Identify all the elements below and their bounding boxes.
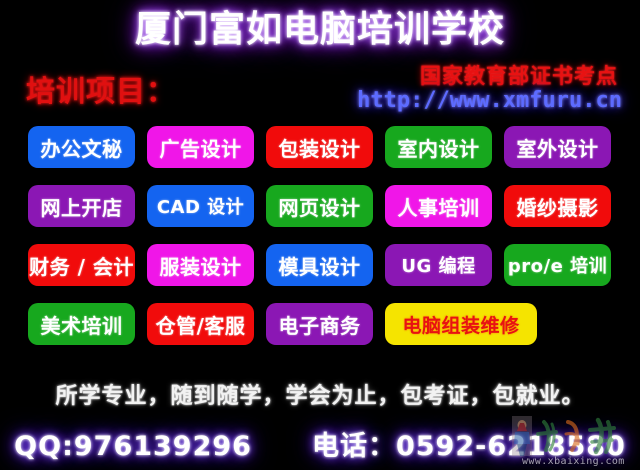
course-button-ug[interactable]: UG 编程: [385, 244, 492, 286]
course-row: 美术培训 仓管/客服 电子商务 电脑组装维修: [28, 303, 614, 345]
course-button-proe[interactable]: pro/e 培训: [504, 244, 611, 286]
certification-badge: 国家教育部证书考点: [420, 60, 618, 90]
course-button-bangongwenmi[interactable]: 办公文秘: [28, 126, 135, 168]
course-button-caiwukuaiji[interactable]: 财务 / 会计: [28, 244, 135, 286]
course-button-renshipeixun[interactable]: 人事培训: [385, 185, 492, 227]
contact-row: QQ:976139296 电话：0592-6218580: [0, 424, 640, 463]
course-button-shiwaisheji[interactable]: 室外设计: [504, 126, 611, 168]
qq-contact[interactable]: QQ:976139296: [14, 431, 252, 462]
course-row: 财务 / 会计 服装设计 模具设计 UG 编程 pro/e 培训: [28, 244, 614, 286]
slogan-text: 所学专业，随到随学，学会为止，包考证，包就业。: [0, 378, 640, 410]
training-programs-label: 培训项目：: [26, 68, 176, 110]
course-button-guanggaosheji[interactable]: 广告设计: [147, 126, 254, 168]
course-button-mojusheji[interactable]: 模具设计: [266, 244, 373, 286]
course-button-shineisheji[interactable]: 室内设计: [385, 126, 492, 168]
phone-contact[interactable]: 电话：0592-6218580: [312, 424, 626, 463]
page-title: 厦门富如电脑培训学校: [0, 8, 640, 52]
course-button-diannaozuzhuangweixiu[interactable]: 电脑组装维修: [385, 303, 537, 345]
course-row: 网上开店 CAD 设计 网页设计 人事培训 婚纱摄影: [28, 185, 614, 227]
course-button-fuzhuangsheji[interactable]: 服装设计: [147, 244, 254, 286]
course-button-hunshasheying[interactable]: 婚纱摄影: [504, 185, 611, 227]
course-button-dianzishangwu[interactable]: 电子商务: [266, 303, 373, 345]
course-grid: 办公文秘 广告设计 包装设计 室内设计 室外设计 网上开店 CAD 设计 网页设…: [28, 126, 614, 362]
course-button-wangyesheji[interactable]: 网页设计: [266, 185, 373, 227]
poster-canvas: 厦门富如电脑培训学校 培训项目： 国家教育部证书考点 http://www.xm…: [0, 0, 640, 470]
course-button-wangshangkaidian[interactable]: 网上开店: [28, 185, 135, 227]
course-button-cad[interactable]: CAD 设计: [147, 185, 254, 227]
course-row: 办公文秘 广告设计 包装设计 室内设计 室外设计: [28, 126, 614, 168]
website-url-link[interactable]: http://www.xmfuru.cn: [357, 88, 622, 113]
course-button-cangguankefu[interactable]: 仓管/客服: [147, 303, 254, 345]
course-button-baozhuangsheji[interactable]: 包装设计: [266, 126, 373, 168]
course-button-meishupeixun[interactable]: 美术培训: [28, 303, 135, 345]
